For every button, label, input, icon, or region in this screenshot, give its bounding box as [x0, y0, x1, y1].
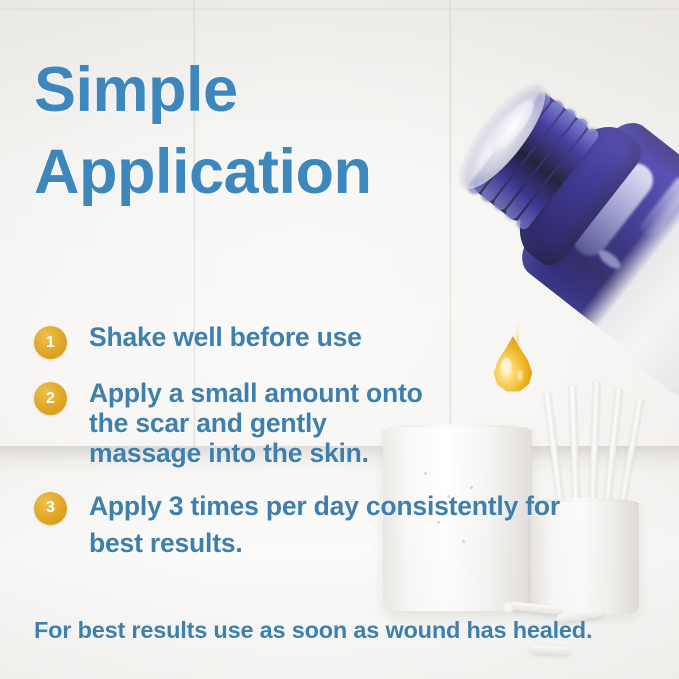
instruction-step-list: 1 Shake well before use 2 Apply a small … [34, 322, 654, 582]
instruction-step: 1 Shake well before use [34, 322, 654, 359]
step-number-badge: 3 [34, 492, 67, 525]
step-text: Apply a small amount onto the scar and g… [89, 378, 423, 469]
step-number-badge: 1 [34, 326, 67, 359]
page-title: Simple Application [34, 50, 372, 214]
product-instruction-infographic: Simple Application 1 Shake well before u… [0, 0, 679, 679]
instruction-step: 2 Apply a small amount onto the scar and… [34, 378, 654, 469]
footer-note: For best results use as soon as wound ha… [34, 617, 592, 644]
step-text: Shake well before use [89, 322, 362, 352]
step-number-badge: 2 [34, 382, 67, 415]
instruction-step: 3 Apply 3 times per day consistently for… [34, 488, 654, 563]
cotton-swab-tip [503, 602, 514, 613]
tile-grout-line-horizontal [0, 8, 679, 11]
cotton-swab-tip [594, 605, 605, 616]
step-text: Apply 3 times per day consistently for b… [89, 488, 560, 563]
